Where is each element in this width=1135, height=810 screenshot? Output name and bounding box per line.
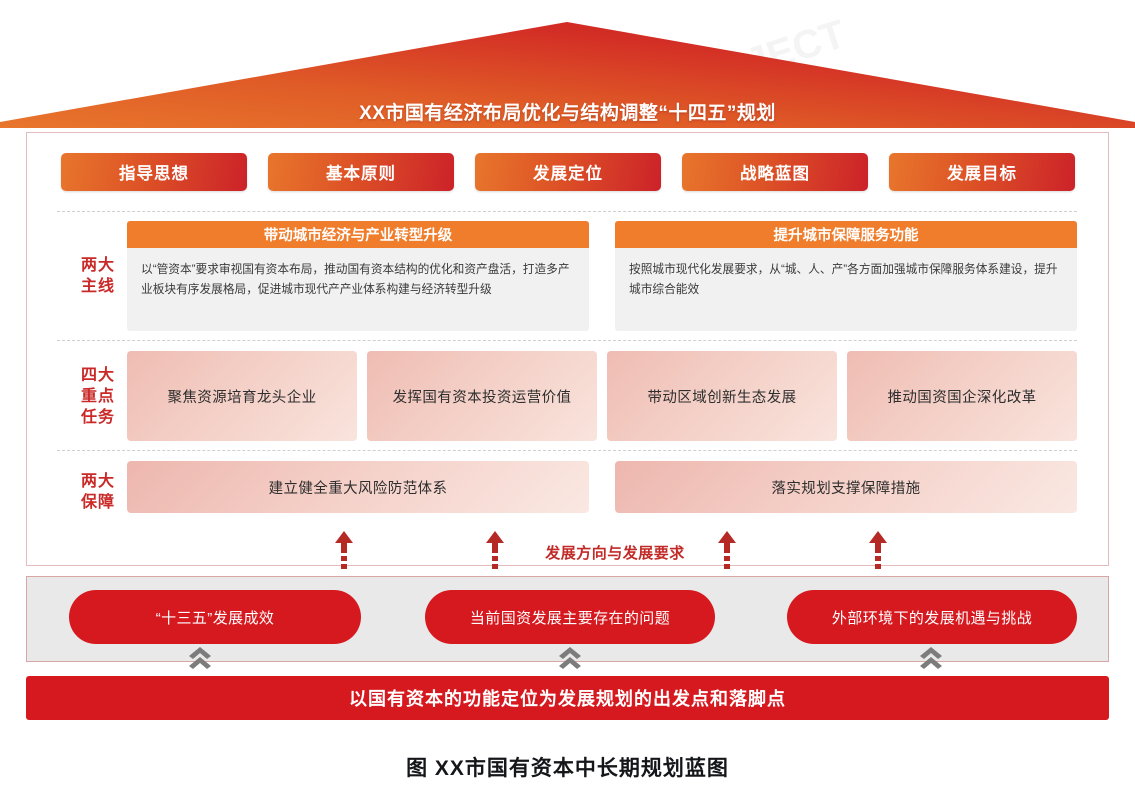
pill-guiding-thought[interactable]: 指导思想 xyxy=(61,153,247,191)
up-arrow-icon xyxy=(867,530,889,574)
pill-development-goals[interactable]: 发展目标 xyxy=(889,153,1075,191)
up-arrow-icon xyxy=(716,530,738,574)
main-line-card[interactable]: 带动城市经济与产业转型升级 以“管资本”要求审视国有资本布局，推动国有资本结构的… xyxy=(127,221,589,331)
main-line-card[interactable]: 提升城市保障服务功能 按照城市现代化发展要求，从“城、人、产”各方面加强城市保障… xyxy=(615,221,1077,331)
foundation-capsule-row: “十三五”发展成效 当前国资发展主要存在的问题 外部环境下的发展机遇与挑战 xyxy=(27,590,1110,644)
key-task-box[interactable]: 推动国资国企深化改革 xyxy=(847,351,1077,441)
key-task-box[interactable]: 带动区域创新生态发展 xyxy=(607,351,837,441)
row-label-key-tasks: 四大 重点 任务 xyxy=(63,365,133,428)
main-line-heading: 提升城市保障服务功能 xyxy=(615,221,1077,248)
arrow-band: 发展方向与发展要求 xyxy=(0,530,1135,576)
main-line-heading: 带动城市经济与产业转型升级 xyxy=(127,221,589,248)
double-chevron-up-icon xyxy=(187,646,213,670)
row-label-main-lines-line2: 主线 xyxy=(63,276,133,297)
row-label-guarantees: 两大 保障 xyxy=(63,471,133,513)
bottom-statement-bar: 以国有资本的功能定位为发展规划的出发点和落脚点 xyxy=(26,676,1109,720)
arrow-band-label: 发展方向与发展要求 xyxy=(525,542,705,563)
top-pill-row: 指导思想 基本原则 发展定位 战略蓝图 发展目标 xyxy=(61,153,1075,191)
row-label-key-tasks-line3: 任务 xyxy=(63,407,133,428)
pill-strategic-blueprint[interactable]: 战略蓝图 xyxy=(682,153,868,191)
foundation-capsule[interactable]: 当前国资发展主要存在的问题 xyxy=(425,590,715,644)
row-label-guarantees-line2: 保障 xyxy=(63,492,133,513)
roof-banner: XX市国有经济布局优化与结构调整“十四五”规划 xyxy=(0,22,1135,128)
row-divider-2 xyxy=(57,340,1077,341)
double-chevron-up-icon xyxy=(557,646,583,670)
pill-development-positioning[interactable]: 发展定位 xyxy=(475,153,661,191)
row-label-key-tasks-line2: 重点 xyxy=(63,386,133,407)
blueprint-figure: PROJECT MANAGEMENT PROJECT XX市国有经济布局优化与结… xyxy=(0,0,1135,810)
row-divider-3 xyxy=(57,450,1077,451)
row-divider-1 xyxy=(57,211,1077,212)
guarantee-box[interactable]: 落实规划支撑保障措施 xyxy=(615,461,1077,513)
row-label-key-tasks-line1: 四大 xyxy=(63,365,133,386)
key-tasks-section: 聚焦资源培育龙头企业 发挥国有资本投资运营价值 带动区域创新生态发展 推动国资国… xyxy=(127,351,1077,441)
guarantee-box[interactable]: 建立健全重大风险防范体系 xyxy=(127,461,589,513)
row-label-guarantees-line1: 两大 xyxy=(63,471,133,492)
row-label-main-lines: 两大 主线 xyxy=(63,255,133,297)
foundation-capsule[interactable]: “十三五”发展成效 xyxy=(69,590,361,644)
key-task-box[interactable]: 聚焦资源培育龙头企业 xyxy=(127,351,357,441)
main-plan-card: 指导思想 基本原则 发展定位 战略蓝图 发展目标 两大 主线 带动城市经济与产业… xyxy=(26,132,1109,566)
key-task-box[interactable]: 发挥国有资本投资运营价值 xyxy=(367,351,597,441)
pill-basic-principles[interactable]: 基本原则 xyxy=(268,153,454,191)
up-arrow-icon xyxy=(484,530,506,574)
roof-title: XX市国有经济布局优化与结构调整“十四五”规划 xyxy=(0,98,1135,125)
foundation-capsule[interactable]: 外部环境下的发展机遇与挑战 xyxy=(787,590,1077,644)
double-chevron-up-icon xyxy=(918,646,944,670)
figure-caption: 图 XX市国有资本中长期规划蓝图 xyxy=(0,752,1135,782)
guarantees-section: 建立健全重大风险防范体系 落实规划支撑保障措施 xyxy=(127,461,1077,513)
main-line-body: 以“管资本”要求审视国有资本布局，推动国有资本结构的优化和资产盘活，打造多产业板… xyxy=(127,248,589,331)
main-lines-section: 带动城市经济与产业转型升级 以“管资本”要求审视国有资本布局，推动国有资本结构的… xyxy=(127,221,1077,331)
row-label-main-lines-line1: 两大 xyxy=(63,255,133,276)
main-line-body: 按照城市现代化发展要求，从“城、人、产”各方面加强城市保障服务体系建设，提升城市… xyxy=(615,248,1077,331)
up-arrow-icon xyxy=(333,530,355,574)
